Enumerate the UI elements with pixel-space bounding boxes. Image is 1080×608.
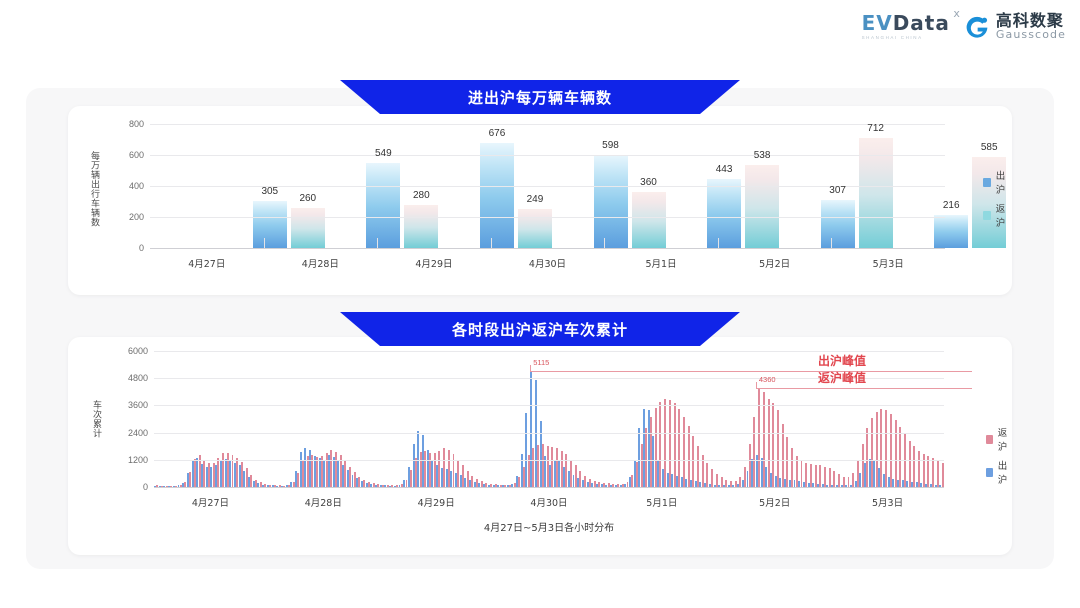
chart1-slot-sep-6 [831,238,832,248]
chart1-ytick-400: 400 [114,181,144,191]
chart2-hourly-bar-back [937,460,939,487]
chart1-bar-value-出沪-4月30日: 598 [602,140,619,151]
chart2-hourly-bar-back [895,420,897,487]
chart1-bar-出沪-4月28日 [366,163,400,248]
chart1-ytick-200: 200 [114,212,144,222]
chart2-out-peak-label: 出沪峰值 [818,352,866,369]
chart1-slot-sep-1 [264,238,265,248]
gausscode-en: Gausscode [996,29,1066,41]
chart2-ytick-1200: 1200 [114,455,148,465]
chart1-xtick-5月2日: 5月2日 [759,256,790,270]
chart2-xtick-5月1日: 5月1日 [646,495,677,509]
chart2-legend-label-出沪: 出沪 [998,458,1012,486]
chart1-bar-value-出沪-5月1日: 443 [716,164,733,175]
chart1-legend: 出沪返沪 [983,168,1012,229]
gausscode-cn: 高科数聚 [996,12,1066,29]
evdata-logo: EVDatax SHANGHAI CHINA [862,13,950,40]
evdata-superscript: x [953,8,961,19]
chart2-hourly-bar-back [692,436,694,487]
chart2-ytick-3600: 3600 [114,400,148,410]
chart2-hourly-bar-back [927,456,929,487]
chart1-xtick-4月30日: 4月30日 [529,256,566,270]
chart1-bar-value-返沪-5月2日: 712 [867,123,884,134]
chart1-bar-value-返沪-4月27日: 260 [299,193,316,204]
chart1-legend-swatch-返沪 [983,211,991,220]
chart2-hourly-bar-back [890,414,892,487]
chart2-caption: 4月27日~5月3日各小时分布 [484,519,614,534]
chart2-hourly-bar-back [777,410,779,487]
chart1-legend-swatch-出沪 [983,178,991,187]
chart2-out-peak-value: 5115 [533,358,549,367]
chart2-out-peak-line [530,371,972,372]
chart2-title: 各时段出沪返沪车次累计 [452,319,628,340]
chart2-hourly-bar-back [918,451,920,487]
chart2-back-peak-label: 返沪峰值 [818,369,866,386]
chart1-xtick-4月29日: 4月29日 [415,256,452,270]
chart2-hourly-bar-back [772,403,774,487]
chart2-hourly-bar-back [899,427,901,487]
chart2-back-peak-value: 4360 [759,375,776,384]
chart2-legend-swatch-出沪 [986,468,993,477]
chart1-slot-sep-4 [604,238,605,248]
chart2-hourly-bar-back [913,446,915,487]
chart1-bar-返沪-4月29日 [518,209,552,248]
chart1-legend-label-返沪: 返沪 [996,201,1012,229]
chart1-bar-value-返沪-4月29日: 249 [527,194,544,205]
chart1-ytick-800: 800 [114,119,144,129]
chart1-xtick-4月28日: 4月28日 [302,256,339,270]
chart2-ytick-4800: 4800 [114,373,148,383]
chart1-ytick-0: 0 [114,243,144,253]
chart1-bar-value-出沪-5月2日: 307 [829,185,846,196]
evdata-wordmark: EVDatax [862,13,950,33]
chart1-bar-value-返沪-5月3日: 585 [981,142,998,153]
chart2-gridline-2400 [154,433,944,434]
chart2-gridline-3600 [154,405,944,406]
chart2-back-peak-cap [756,382,757,388]
chart1-title: 进出沪每万辆车辆数 [468,87,612,108]
evdata-word-data: Data [893,11,950,35]
chart-card-hourly: 返沪出沪 车次累计0120024003600480060004月27日4月28日… [68,337,1012,555]
evdata-word-ev: EV [862,11,893,35]
chart1-legend-item-出沪: 出沪 [983,168,1012,196]
chart1-bar-value-出沪-4月27日: 305 [261,186,278,197]
chart2-title-banner: 各时段出沪返沪车次累计 [340,312,740,346]
chart2-xtick-4月27日: 4月27日 [192,495,229,509]
chart2-ytick-2400: 2400 [114,428,148,438]
chart2-legend-label-返沪: 返沪 [998,425,1012,453]
chart1-ytick-600: 600 [114,150,144,160]
chart1-bar-value-出沪-4月28日: 549 [375,148,392,159]
chart1-y-axis-label: 每万辆出行车辆数 [88,130,101,248]
chart1-title-banner: 进出沪每万辆车辆数 [340,80,740,114]
chart1-legend-label-出沪: 出沪 [996,168,1012,196]
chart1-bar-value-返沪-4月30日: 360 [640,177,657,188]
chart2-xtick-4月28日: 4月28日 [305,495,342,509]
chart2-ytick-0: 0 [114,482,148,492]
chart2-legend-swatch-返沪 [986,435,993,444]
chart2-hourly-bar-back [885,410,887,487]
chart1-bar-出沪-4月27日 [253,201,287,248]
chart2-hourly-bar-back [697,446,699,487]
chart1-bar-出沪-4月29日 [480,143,514,248]
chart1-bar-出沪-5月1日 [707,179,741,248]
gausscode-mark-icon [964,14,990,40]
gausscode-logo: 高科数聚 Gausscode [964,12,1066,41]
chart2-hourly-bar-back [942,463,944,487]
chart1-gridline-800 [150,124,945,125]
chart-card-vehicles: 出沪返沪 每万辆出行车辆数02004006008003052604月27日549… [68,106,1012,295]
chart1-bar-返沪-4月30日 [632,192,666,248]
chart1-bar-value-返沪-4月28日: 280 [413,190,430,201]
chart2-gridline-1200 [154,460,944,461]
chart2-legend-item-出沪: 出沪 [986,458,1012,486]
chart1-legend-item-返沪: 返沪 [983,201,1012,229]
chart2-legend-item-返沪: 返沪 [986,425,1012,453]
chart1-xtick-5月3日: 5月3日 [873,256,904,270]
chart1-bar-返沪-5月1日 [745,165,779,248]
dashboard-page: EVDatax SHANGHAI CHINA 高科数聚 Gausscode 出沪… [0,0,1080,608]
chart1-bar-value-出沪-4月29日: 676 [489,128,506,139]
header-logo-group: EVDatax SHANGHAI CHINA 高科数聚 Gausscode [862,12,1066,41]
gausscode-text: 高科数聚 Gausscode [996,12,1066,41]
chart2-legend: 返沪出沪 [986,425,1012,486]
chart1-bar-value-返沪-5月1日: 538 [754,150,771,161]
chart2-hourly-bar-back [909,441,911,487]
chart1-bar-返沪-4月27日 [291,208,325,248]
chart2-out-peak-cap [530,365,531,371]
chart2-back-peak-line [756,388,972,389]
chart2-y-axis-label: 车次累计 [90,361,103,477]
chart1-gridline-0 [150,248,945,249]
chart2-xtick-5月2日: 5月2日 [759,495,790,509]
chart1-slot-sep-2 [377,238,378,248]
chart1-xtick-5月1日: 5月1日 [646,256,677,270]
chart2-xtick-4月29日: 4月29日 [418,495,455,509]
chart1-bar-出沪-4月30日 [594,155,628,248]
chart1-gridline-600 [150,155,945,156]
chart1-gridline-200 [150,217,945,218]
chart1-bar-返沪-4月28日 [404,205,438,248]
chart2-xtick-4月30日: 4月30日 [530,495,567,509]
chart2-hourly-bar-back [678,409,680,487]
chart2-gridline-0 [154,487,944,488]
evdata-tagline: SHANGHAI CHINA [862,35,923,40]
chart2-xtick-5月3日: 5月3日 [872,495,903,509]
chart1-bar-出沪-5月2日 [821,200,855,248]
chart1-bar-出沪-5月3日 [934,215,968,248]
chart2-hourly-bar-back [932,458,934,487]
chart1-slot-sep-5 [718,238,719,248]
chart2-ytick-6000: 6000 [114,346,148,356]
chart1-xtick-4月27日: 4月27日 [188,256,225,270]
chart2-hourly-bar-back [683,417,685,487]
chart1-slot-sep-3 [491,238,492,248]
chart2-hourly-bar-back [688,426,690,487]
chart1-bar-value-出沪-5月3日: 216 [943,200,960,211]
chart2-hourly-bar-back [674,403,676,487]
